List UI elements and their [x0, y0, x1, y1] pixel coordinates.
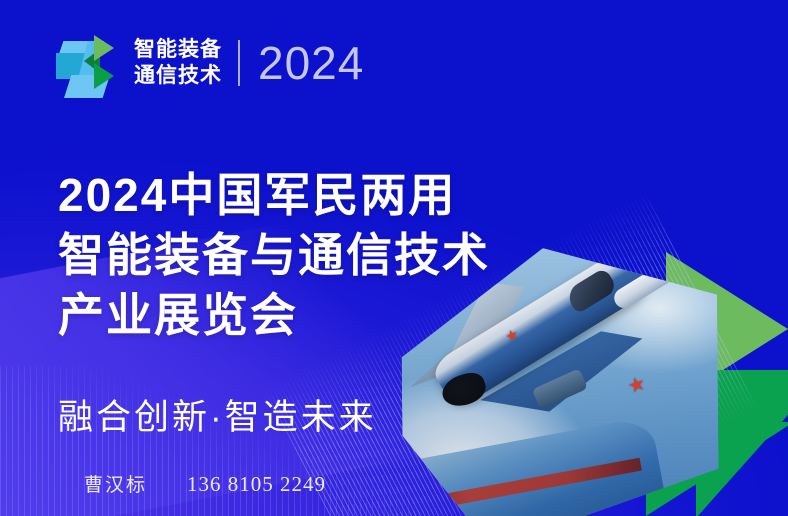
logo-triangle-light-green — [94, 35, 114, 61]
brand-wordmark-line2: 通信技术 — [134, 64, 222, 88]
header-year: 2024 — [258, 40, 364, 86]
brand-wordmark: 智能装备 通信技术 — [134, 38, 222, 87]
brand-header: 智能装备 通信技术 2024 — [56, 28, 364, 98]
contact-phone: 136 8105 2249 — [187, 472, 326, 497]
headline-line-1: 2024中国军民两用 — [58, 166, 490, 226]
headline-line-3: 产业展览会 — [58, 286, 490, 346]
contact-info: 曹汉标 136 8105 2249 — [84, 470, 326, 497]
brand-wordmark-line1: 智能装备 — [134, 38, 222, 62]
logo-triangle-dark-green — [94, 63, 114, 89]
page-title: 2024中国军民两用 智能装备与通信技术 产业展览会 — [58, 166, 490, 345]
brand-cube-logo-icon — [56, 27, 118, 99]
contact-name: 曹汉标 — [84, 470, 147, 497]
header-divider — [238, 40, 240, 86]
exhibition-poster: ★ ★ 智能装备 通信技术 2024 2024中国军民两用 智能装备与通信技术 … — [0, 0, 788, 516]
headline-line-2: 智能装备与通信技术 — [58, 226, 490, 286]
slogan-text: 融合创新·智造未来 — [58, 400, 377, 435]
